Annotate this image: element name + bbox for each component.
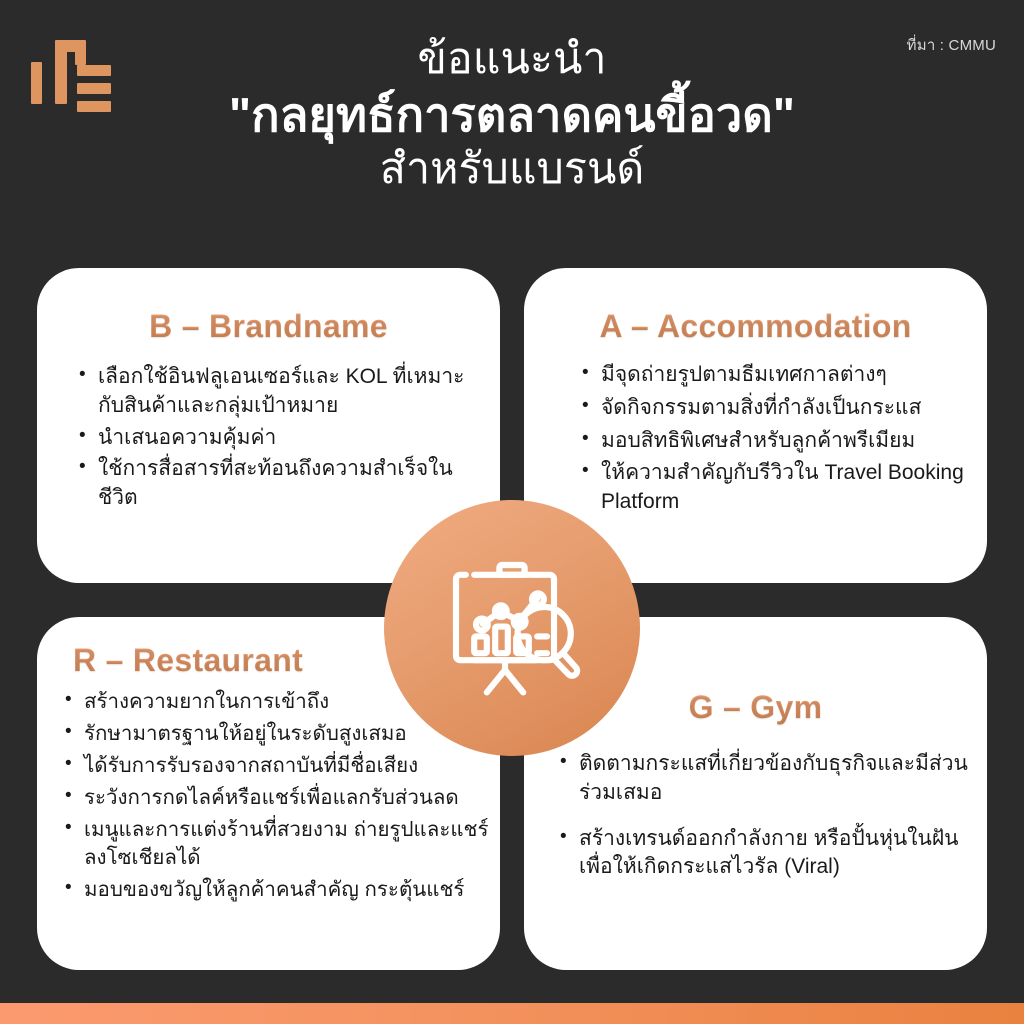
- list-item: มีจุดถ่ายรูปตามธีมเทศกาลต่างๆ: [582, 361, 972, 390]
- list-item: เมนูและการแต่งร้านที่สวยงาม ถ่ายรูปและแช…: [65, 816, 495, 872]
- list-item: เลือกใช้อินฟลูเอนเซอร์และ KOL ที่เหมาะกั…: [79, 363, 479, 421]
- list-item: มอบของขวัญให้ลูกค้าคนสำคัญ กระตุ้นแชร์: [65, 876, 495, 904]
- bullet-list-brandname: เลือกใช้อินฟลูเอนเซอร์และ KOL ที่เหมาะกั…: [79, 363, 479, 513]
- page-title: ข้อแนะนำ "กลยุทธ์การตลาดคนขี้อวด" สำหรับ…: [0, 34, 1024, 196]
- card-title-accommodation: A – Accommodation: [524, 308, 987, 345]
- bullet-list-accommodation: มีจุดถ่ายรูปตามธีมเทศกาลต่างๆ จัดกิจกรรม…: [582, 361, 972, 517]
- list-item: ได้รับการรับรองจากสถาบันที่มีชื่อเสียง: [65, 752, 495, 780]
- title-line-2: "กลยุทธ์การตลาดคนขี้อวด": [0, 87, 1024, 143]
- presentation-analytics-search-icon: [384, 500, 640, 756]
- list-item: นำเสนอความคุ้มค่า: [79, 424, 479, 453]
- presentation-board-graphic: [428, 544, 596, 712]
- infographic-page: ที่มา : CMMU ข้อแนะนำ "กลยุทธ์การตลาดคนข…: [0, 0, 1024, 1024]
- list-item: ใช้การสื่อสารที่สะท้อนถึงความสำเร็จในชีว…: [79, 455, 479, 513]
- card-title-brandname: B – Brandname: [37, 308, 500, 345]
- list-item: จัดกิจกรรมตามสิ่งที่กำลังเป็นกระแส: [582, 394, 972, 423]
- bullet-list-gym: ติดตามกระแสที่เกี่ยวข้องกับธุรกิจและมีส่…: [560, 750, 980, 882]
- list-item: มอบสิทธิพิเศษสำหรับลูกค้าพรีเมียม: [582, 427, 972, 456]
- list-item: ระวังการกดไลค์หรือแชร์เพื่อแลกรับส่วนลด: [65, 784, 495, 812]
- list-item: สร้างเทรนด์ออกกำลังกาย หรือปั้นหุ่นในฝัน…: [560, 825, 980, 883]
- title-line-1: ข้อแนะนำ: [0, 34, 1024, 85]
- list-item: ให้ความสำคัญกับรีวิวใน Travel Booking Pl…: [582, 459, 972, 517]
- title-line-3: สำหรับแบรนด์: [0, 144, 1024, 196]
- bottom-accent-bar: [0, 1003, 1024, 1024]
- list-item: ติดตามกระแสที่เกี่ยวข้องกับธุรกิจและมีส่…: [560, 750, 980, 808]
